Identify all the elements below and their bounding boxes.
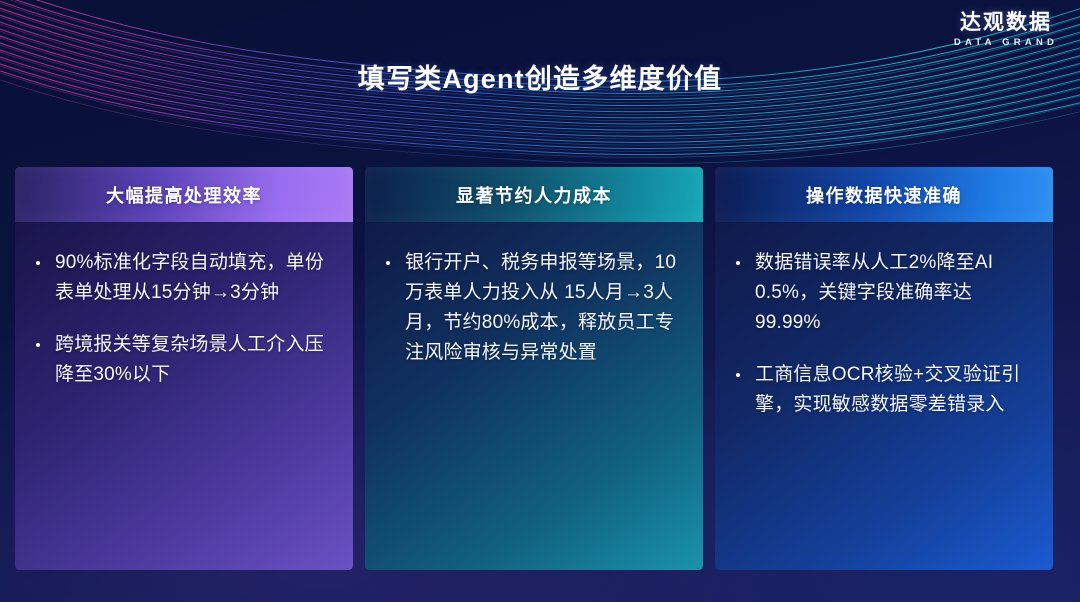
- bullet-dot-icon: [386, 261, 390, 265]
- list-item: 工商信息OCR核验+交叉验证引擎，实现敏感数据零差错录入: [729, 360, 1037, 420]
- list-item-text: 银行开户、税务申报等场景，10万表单人力投入从 15人月→3人月，节约80%成本…: [405, 252, 676, 363]
- brand-name-cn: 达观数据: [954, 12, 1058, 33]
- card-header-label: 操作数据快速准确: [806, 182, 962, 208]
- bullet-dot-icon: [36, 261, 40, 265]
- brand-name-en: DATA GRAND: [954, 38, 1058, 48]
- list-item-text: 跨境报关等复杂场景人工介入压降至30%以下: [55, 334, 324, 385]
- card-header-efficiency: 大幅提高处理效率: [15, 167, 353, 222]
- page-title: 填写类Agent创造多维度价值: [0, 57, 1080, 96]
- list-item-text: 工商信息OCR核验+交叉验证引擎，实现敏感数据零差错录入: [755, 364, 1020, 415]
- bullet-list-efficiency: 90%标准化字段自动填充，单份表单处理从15分钟→3分钟 跨境报关等复杂场景人工…: [29, 248, 337, 390]
- bullet-dot-icon: [736, 373, 740, 377]
- bullet-list-labor-cost: 银行开户、税务申报等场景，10万表单人力投入从 15人月→3人月，节约80%成本…: [379, 248, 687, 368]
- card-body-efficiency: 90%标准化字段自动填充，单份表单处理从15分钟→3分钟 跨境报关等复杂场景人工…: [15, 222, 353, 570]
- card-body-labor-cost: 银行开户、税务申报等场景，10万表单人力投入从 15人月→3人月，节约80%成本…: [365, 222, 703, 570]
- card-header-label: 显著节约人力成本: [456, 182, 612, 208]
- bullet-dot-icon: [736, 261, 740, 265]
- list-item: 90%标准化字段自动填充，单份表单处理从15分钟→3分钟: [29, 248, 337, 308]
- list-item: 数据错误率从人工2%降至AI 0.5%，关键字段准确率达99.99%: [729, 248, 1037, 338]
- card-header-accuracy: 操作数据快速准确: [715, 167, 1053, 222]
- slide-canvas: 达观数据 DATA GRAND 填写类Agent创造多维度价值 大幅提高处理效率…: [0, 0, 1080, 602]
- list-item-text: 数据错误率从人工2%降至AI 0.5%，关键字段准确率达99.99%: [755, 252, 993, 333]
- list-item: 跨境报关等复杂场景人工介入压降至30%以下: [29, 330, 337, 390]
- card-header-label: 大幅提高处理效率: [106, 182, 262, 208]
- list-item-text: 90%标准化字段自动填充，单份表单处理从15分钟→3分钟: [55, 252, 324, 303]
- value-card-labor-cost: 显著节约人力成本 银行开户、税务申报等场景，10万表单人力投入从 15人月→3人…: [365, 167, 703, 570]
- value-cards-row: 大幅提高处理效率 90%标准化字段自动填充，单份表单处理从15分钟→3分钟 跨境…: [15, 167, 1065, 570]
- value-card-accuracy: 操作数据快速准确 数据错误率从人工2%降至AI 0.5%，关键字段准确率达99.…: [715, 167, 1053, 570]
- bullet-dot-icon: [36, 343, 40, 347]
- card-body-accuracy: 数据错误率从人工2%降至AI 0.5%，关键字段准确率达99.99% 工商信息O…: [715, 222, 1053, 570]
- value-card-efficiency: 大幅提高处理效率 90%标准化字段自动填充，单份表单处理从15分钟→3分钟 跨境…: [15, 167, 353, 570]
- brand-logo: 达观数据 DATA GRAND: [954, 12, 1058, 48]
- bullet-list-accuracy: 数据错误率从人工2%降至AI 0.5%，关键字段准确率达99.99% 工商信息O…: [729, 248, 1037, 420]
- card-header-labor-cost: 显著节约人力成本: [365, 167, 703, 222]
- list-item: 银行开户、税务申报等场景，10万表单人力投入从 15人月→3人月，节约80%成本…: [379, 248, 687, 368]
